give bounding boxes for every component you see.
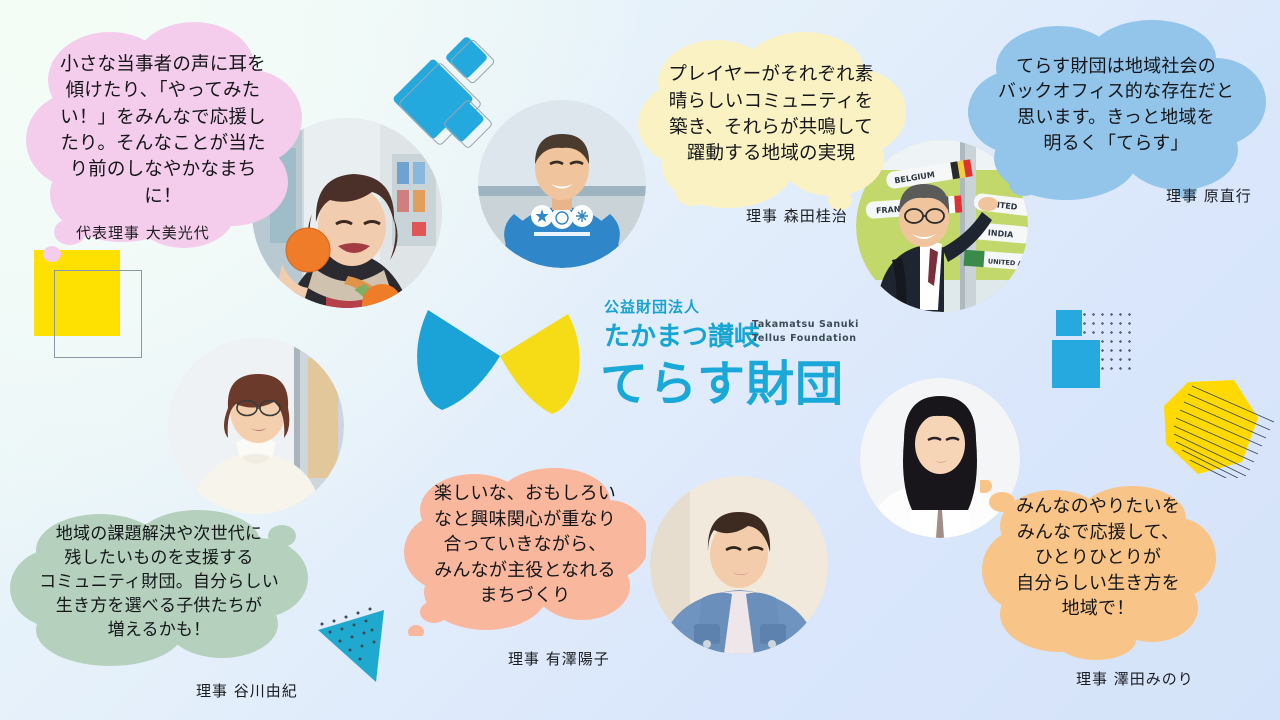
quote-text-hara: てらす財団は地域社会の バックオフィス的な存在だと 思います。きっと地域を 明る… (966, 16, 1266, 206)
logo-main-name: てらす財団 (600, 344, 844, 414)
quote-bubble-sawada: みんなのやりたいを みんなで応援して、 ひとりひとりが 自分らしい生き方を 地域… (980, 480, 1216, 660)
quote-credit-sawada: 理事 澤田みのり (1076, 668, 1194, 689)
foundation-logo: 公益財団法人 たかまつ讃岐 Takamatsu Sanuki Tellus Fo… (412, 292, 862, 420)
quote-text-morita: プレイヤーがそれぞれ素 晴らしいコミュニティを 築き、それらが共鳴して 躍動する… (636, 30, 906, 212)
quote-credit-hara: 理事 原直行 (1166, 185, 1252, 206)
quote-credit-morita: 理事 森田桂治 (746, 205, 848, 226)
quote-credit-tanigawa: 理事 谷川由紀 (196, 680, 298, 701)
quote-bubble-tanigawa: 地域の課題解決や次世代に 残したいものを支援する コミュニティ財団。自分らしい … (6, 506, 312, 666)
logo-wordmark: 公益財団法人 たかまつ讃岐 Takamatsu Sanuki Tellus Fo… (604, 292, 862, 420)
quote-text-sawada: みんなのやりたいを みんなで応援して、 ひとりひとりが 自分らしい生き方を 地域… (980, 480, 1216, 660)
quote-credit-arisawa: 理事 有澤陽子 (508, 648, 610, 669)
logo-name-en-line1: Takamatsu Sanuki (752, 318, 859, 332)
quote-bubble-hara: てらす財団は地域社会の バックオフィス的な存在だと 思います。きっと地域を 明る… (966, 16, 1266, 206)
logo-name-en: Takamatsu Sanuki Tellus Foundation (752, 318, 859, 346)
quote-credit-oomi: 代表理事 大美光代 (76, 222, 210, 243)
quote-bubble-arisawa: 楽しいな、おもしろい なと興味関心が重なり 合っていきながら、 みんなが主役とな… (404, 466, 646, 636)
quote-text-arisawa: 楽しいな、おもしろい なと興味関心が重なり 合っていきながら、 みんなが主役とな… (404, 466, 646, 636)
poster-canvas: BELGIUM FRANCE (0, 0, 1280, 720)
quote-bubble-morita: プレイヤーがそれぞれ素 晴らしいコミュニティを 築き、それらが共鳴して 躍動する… (636, 30, 906, 212)
quote-text-tanigawa: 地域の課題解決や次世代に 残したいものを支援する コミュニティ財団。自分らしい … (6, 506, 312, 666)
bowtie-logo-mark (412, 298, 592, 414)
logo-prefix: 公益財団法人 (604, 296, 700, 317)
